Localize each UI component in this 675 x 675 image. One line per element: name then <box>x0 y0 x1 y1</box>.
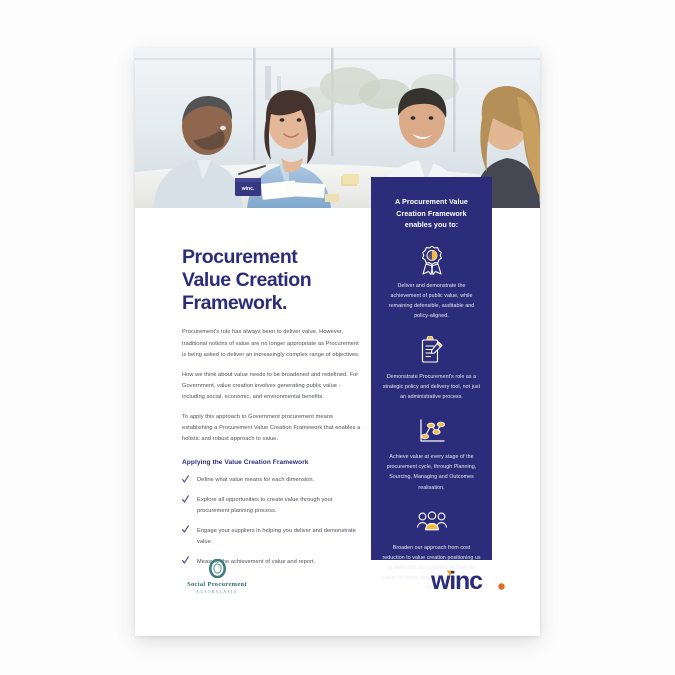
page-title-line-2: Value Creation <box>182 269 311 291</box>
panel-feature-2: Demonstrate Procurement's role as a stra… <box>371 336 492 402</box>
panel-feature-3-text: Achieve value at every stage of the proc… <box>382 452 481 493</box>
framework-steps-list: Define what value means for each dimensi… <box>182 475 363 567</box>
award-rosette-icon <box>382 245 481 275</box>
social-procurement-logo-name: Social Procurement <box>179 581 255 588</box>
panel-heading: A Procurement Value Creation Framework e… <box>371 177 492 231</box>
page-title-line-3: Framework. <box>182 292 287 314</box>
check-icon <box>182 495 189 504</box>
line-chart-icon <box>382 416 481 446</box>
social-procurement-logo: Social Procurement AUSTRALASIA <box>179 559 255 594</box>
main-content-column: Procurement Value Creation Framework. Pr… <box>182 246 363 576</box>
winc-logo-icon: winc <box>431 564 509 594</box>
page-title-line-1: Procurement <box>182 246 297 268</box>
ring-icon <box>179 559 255 578</box>
panel-feature-2-text: Demonstrate Procurement's role as a stra… <box>382 372 481 402</box>
check-icon <box>182 475 189 484</box>
check-icon <box>182 525 189 534</box>
page-title: Procurement Value Creation Framework. <box>182 246 363 314</box>
svg-text:winc: winc <box>431 567 483 594</box>
panel-feature-3: Achieve value at every stage of the proc… <box>371 416 492 493</box>
document-page: winc. Procurement Value Creation Framewo… <box>135 48 540 636</box>
intro-paragraph-2: How we think about value needs to be bro… <box>182 370 363 403</box>
intro-paragraph-1: Procurement's role has always been to de… <box>182 327 363 360</box>
list-item: Define what value means for each dimensi… <box>182 475 363 486</box>
winc-logo: winc <box>431 564 509 594</box>
list-item-label: Engage your suppliers in helping you del… <box>197 526 363 548</box>
clipboard-pen-icon <box>382 336 481 366</box>
screenshot-canvas: winc. Procurement Value Creation Framewo… <box>0 0 675 675</box>
section-subheading: Applying the Value Creation Framework <box>182 459 363 466</box>
list-item-label: Explore all opportunities to create valu… <box>197 495 363 517</box>
value-framework-panel: A Procurement Value Creation Framework e… <box>371 177 492 560</box>
list-item-label: Define what value means for each dimensi… <box>197 475 314 486</box>
panel-feature-1-text: Deliver and demonstrate the achievement … <box>382 281 481 322</box>
panel-feature-1: Deliver and demonstrate the achievement … <box>371 245 492 322</box>
social-procurement-logo-sub: AUSTRALASIA <box>179 590 255 594</box>
list-item: Engage your suppliers in helping you del… <box>182 526 363 548</box>
intro-paragraph-3: To apply this approach to Government pro… <box>182 412 363 445</box>
list-item: Explore all opportunities to create valu… <box>182 495 363 517</box>
people-group-icon <box>382 507 481 537</box>
